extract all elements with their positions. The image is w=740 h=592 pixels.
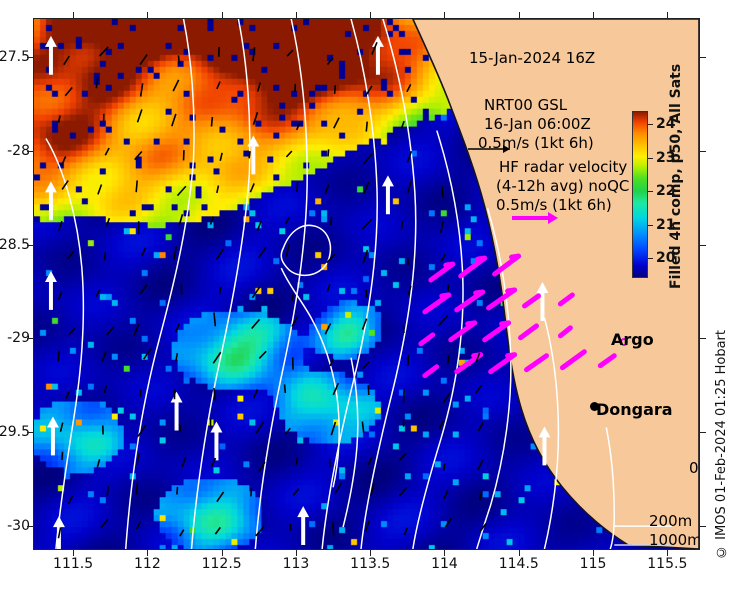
stick-vector — [174, 246, 176, 260]
y-tick-mark — [27, 151, 33, 152]
stick-vector — [178, 55, 179, 63]
argo-label: Argo — [611, 330, 654, 349]
stick-vector — [334, 118, 339, 129]
stick-vector — [364, 153, 373, 163]
stick-vector — [256, 422, 263, 433]
stick-vector — [173, 80, 178, 91]
stick-vector — [297, 123, 300, 130]
clipped-time-label: 0Z — [689, 459, 700, 477]
x-tick-mark — [296, 550, 297, 556]
y-tick-mark-right — [700, 432, 706, 433]
x-tick-label: 114.5 — [499, 556, 539, 572]
x-tick-mark-top — [444, 12, 445, 18]
stick-vector — [285, 428, 290, 434]
stick-vector — [327, 284, 329, 291]
x-tick-mark — [444, 550, 445, 556]
colorbar-tick-mark — [648, 124, 653, 125]
overlay-vector-layer — [34, 19, 699, 549]
stick-vector — [217, 492, 224, 502]
stick-vector — [137, 109, 141, 122]
y-tick-mark-right — [700, 526, 706, 527]
stick-vector — [69, 328, 75, 335]
colorbar-tick-mark — [648, 158, 653, 159]
stick-vector — [333, 522, 334, 536]
stick-vector — [253, 112, 257, 124]
x-tick-mark — [370, 550, 371, 556]
stick-vector — [445, 518, 451, 527]
stick-vector — [141, 83, 143, 96]
map-plot-area[interactable]: 15-Jan-2024 16Z NRT00 GSL 16-Jan 06:00Z … — [33, 18, 700, 550]
radar-reference-arrow-icon — [510, 211, 570, 225]
stick-vector — [61, 423, 63, 432]
x-tick-mark-top — [73, 12, 74, 18]
stick-vector — [135, 152, 142, 160]
colorbar-tick-label: 20 — [656, 250, 675, 266]
colorbar-gradient — [632, 111, 648, 278]
x-tick-mark-top — [147, 12, 148, 18]
stick-vector — [98, 184, 102, 194]
stick-vector — [214, 388, 215, 401]
x-tick-mark — [222, 550, 223, 556]
stick-vector — [444, 490, 448, 498]
stick-vector — [136, 180, 137, 192]
stick-vector — [68, 496, 72, 504]
depth-label-200m: 200m — [649, 512, 692, 530]
stick-vector — [407, 151, 411, 162]
x-tick-label: 115.5 — [647, 556, 687, 572]
stick-vector — [401, 221, 402, 229]
stick-vector — [286, 244, 289, 256]
stick-vector — [180, 530, 184, 536]
stick-vector — [296, 457, 297, 465]
x-tick-mark — [519, 550, 520, 556]
stick-vector — [476, 385, 482, 393]
stick-vector — [439, 316, 448, 326]
stick-vector — [362, 421, 363, 432]
stick-vector — [335, 85, 336, 94]
stick-vector — [176, 353, 177, 361]
x-tick-label: 114 — [431, 556, 458, 572]
stick-vector — [439, 421, 443, 429]
stick-vector — [252, 286, 260, 297]
x-tick-label: 115 — [580, 556, 607, 572]
colorbar-tick-label: 23 — [656, 150, 675, 166]
y-tick-label: -29.5 — [0, 424, 30, 440]
stick-vector — [137, 453, 139, 464]
stick-vector — [293, 489, 299, 495]
x-tick-label: 111.5 — [53, 556, 93, 572]
wind-legend-line2: 16-Jan 06:00Z — [484, 115, 591, 133]
stick-vector — [328, 149, 329, 156]
stick-vector — [214, 313, 215, 327]
stick-vector — [331, 217, 332, 225]
stick-vector — [252, 319, 260, 328]
wind-legend-line1: NRT00 GSL — [484, 96, 567, 114]
x-tick-mark-top — [370, 12, 371, 18]
stick-vector — [177, 186, 185, 195]
x-tick-label: 113.5 — [350, 556, 390, 572]
stick-vector — [444, 464, 445, 471]
stick-vector — [368, 457, 371, 465]
stick-vector — [220, 287, 221, 295]
stick-vector — [258, 83, 261, 92]
stick-vector — [210, 217, 213, 225]
stick-vector — [362, 219, 371, 229]
stick-vector — [217, 186, 219, 193]
stick-vector — [67, 251, 74, 259]
stick-vector-group — [58, 42, 486, 538]
stick-vector — [325, 323, 330, 334]
stick-vector — [478, 422, 483, 431]
stick-vector — [325, 184, 329, 194]
stick-vector — [96, 77, 97, 89]
colorbar-tick-label: 21 — [656, 217, 675, 233]
stick-vector — [140, 55, 147, 65]
stick-vector — [257, 221, 261, 231]
stick-vector — [400, 454, 406, 461]
stick-vector — [447, 355, 449, 365]
colorbar-group: Filled 4h comp, p50, All Sats 2021222324 — [632, 93, 692, 293]
stick-vector — [259, 351, 266, 358]
colorbar-tick-label: 22 — [656, 183, 675, 199]
stick-vector — [104, 386, 106, 393]
stick-vector — [97, 459, 99, 467]
stick-vector — [286, 151, 291, 157]
stick-vector — [140, 285, 147, 294]
stick-vector — [136, 483, 137, 495]
y-tick-mark-right — [700, 245, 706, 246]
colorbar-tick-mark — [648, 225, 653, 226]
stick-vector — [297, 182, 298, 192]
stick-vector — [407, 84, 411, 91]
stick-vector — [101, 519, 108, 528]
stick-vector — [443, 392, 450, 403]
stick-vector — [478, 460, 483, 470]
y-tick-mark — [27, 526, 33, 527]
stick-vector — [65, 87, 72, 95]
stick-vector — [59, 116, 60, 123]
stick-vector — [105, 148, 109, 155]
stick-vector — [363, 250, 367, 263]
copyright-credit: © IMOS 01-Feb-2024 01:25 Hobart — [714, 330, 729, 559]
stick-vector — [327, 254, 335, 262]
stick-vector — [249, 151, 250, 158]
y-tick-mark — [27, 338, 33, 339]
stick-vector — [480, 491, 482, 500]
y-tick-mark-right — [700, 57, 706, 58]
x-tick-mark — [593, 550, 594, 556]
stick-vector — [66, 392, 69, 399]
stick-vector — [399, 487, 406, 496]
wind-reference-arrow-icon — [466, 141, 526, 155]
stick-vector — [142, 248, 145, 256]
stick-vector — [259, 247, 266, 258]
stick-vector — [100, 47, 109, 56]
y-tick-label: -27.5 — [0, 49, 30, 65]
stick-vector — [215, 527, 220, 534]
stick-vector — [58, 350, 59, 361]
y-tick-mark — [27, 432, 33, 433]
stick-vector — [107, 486, 108, 496]
stick-vector — [96, 289, 100, 296]
stick-vector — [292, 294, 293, 301]
hf-radar-arrow-group — [421, 256, 614, 376]
stick-vector — [253, 47, 255, 61]
stick-vector — [330, 359, 333, 366]
stick-vector — [179, 214, 182, 225]
dongara-label: Dongara — [596, 400, 673, 419]
stick-vector — [404, 528, 407, 535]
stick-vector — [328, 58, 333, 65]
stick-vector — [211, 117, 212, 126]
x-tick-mark-top — [593, 12, 594, 18]
radar-legend-line2: (4-12h avg) noQC — [496, 177, 629, 195]
y-tick-mark — [27, 57, 33, 58]
stick-vector — [62, 156, 66, 165]
stick-vector — [335, 483, 341, 494]
stick-vector — [172, 114, 176, 126]
stick-vector — [401, 121, 404, 129]
stick-vector — [441, 254, 445, 261]
stick-vector — [217, 82, 220, 89]
colorbar-tick-label: 24 — [656, 116, 675, 132]
x-tick-mark-top — [222, 12, 223, 18]
y-tick-mark-right — [700, 151, 706, 152]
stick-vector — [107, 327, 114, 335]
x-tick-label: 112.5 — [202, 556, 242, 572]
stick-vector — [285, 384, 286, 392]
stick-vector — [216, 249, 223, 260]
stick-vector — [364, 182, 369, 194]
stick-vector — [441, 221, 443, 232]
stick-vector — [220, 153, 222, 161]
stick-vector — [177, 487, 178, 494]
stick-vector — [363, 362, 369, 369]
y-tick-label: -28.5 — [0, 237, 30, 253]
colorbar-tick-mark — [648, 258, 653, 259]
colorbar-tick-mark — [648, 191, 653, 192]
stick-vector — [366, 122, 367, 132]
x-tick-label: 112 — [134, 556, 161, 572]
stick-vector — [287, 50, 293, 56]
stick-vector — [408, 180, 412, 193]
stick-vector — [59, 221, 62, 231]
x-tick-label: 113 — [283, 556, 310, 572]
x-tick-mark — [667, 550, 668, 556]
depth-label-1000m: 1000m — [649, 531, 700, 549]
stick-vector — [366, 521, 370, 532]
stick-vector — [62, 452, 63, 460]
stick-vector — [182, 457, 186, 467]
stick-vector — [250, 183, 254, 192]
x-tick-mark-top — [296, 12, 297, 18]
stick-vector — [64, 56, 69, 65]
radar-legend-line1: HF radar velocity — [499, 158, 627, 176]
stick-vector — [59, 292, 62, 299]
stick-vector — [180, 424, 181, 431]
stick-vector — [105, 252, 106, 260]
x-tick-mark — [73, 550, 74, 556]
stick-vector — [331, 422, 335, 435]
date-stamp: 15-Jan-2024 16Z — [469, 49, 595, 67]
y-tick-mark-right — [700, 338, 706, 339]
stick-vector — [285, 217, 289, 224]
stick-vector — [442, 186, 443, 197]
stick-vector — [102, 352, 106, 362]
figure-canvas: 15-Jan-2024 16Z NRT00 GSL 16-Jan 06:00Z … — [0, 0, 740, 592]
stick-vector — [106, 218, 109, 226]
stick-vector — [136, 522, 140, 529]
stick-vector — [254, 389, 258, 398]
stick-vector — [144, 349, 151, 359]
x-tick-mark-top — [519, 12, 520, 18]
x-tick-mark-top — [667, 12, 668, 18]
y-tick-mark — [27, 245, 33, 246]
stick-vector — [176, 324, 179, 332]
stick-vector — [211, 458, 216, 468]
stick-vector — [134, 324, 139, 336]
x-tick-mark — [147, 550, 148, 556]
